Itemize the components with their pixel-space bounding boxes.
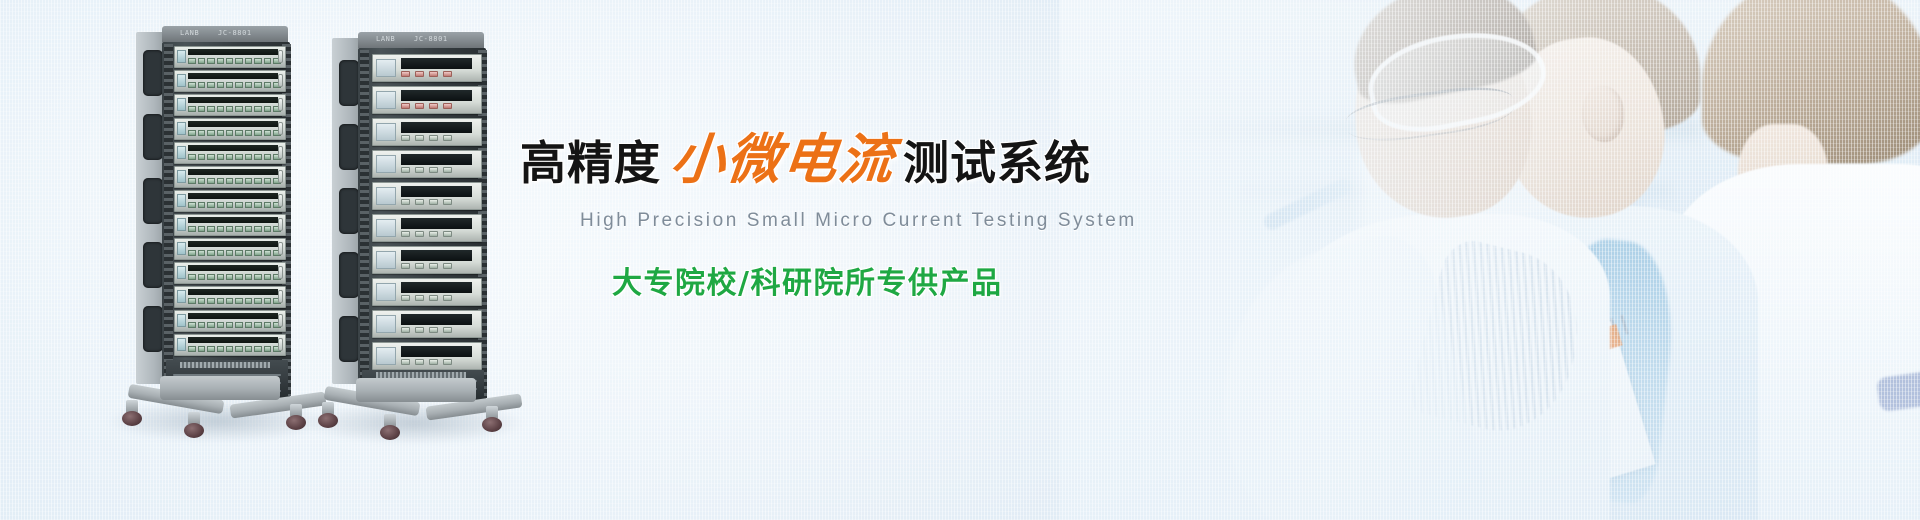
rack-caster	[482, 406, 502, 432]
module-dark-strip	[188, 97, 278, 104]
module-knob	[278, 98, 284, 110]
rack-rail-left	[360, 50, 369, 398]
frame-slot	[339, 188, 359, 234]
instrument-module	[174, 238, 286, 260]
module-channel-row	[188, 345, 280, 353]
module-knob	[278, 50, 284, 62]
module-display	[376, 251, 395, 269]
rack-model-label: JC-8801	[414, 35, 448, 43]
rack-caster	[318, 402, 338, 428]
frame-slot	[143, 114, 163, 160]
rack-brand-label: LANB	[180, 29, 199, 37]
module-dark-strip	[188, 337, 278, 344]
instrument-module	[372, 182, 482, 210]
module-knob	[278, 170, 284, 182]
module-channel-row	[188, 153, 280, 161]
module-dark-strip	[401, 250, 472, 261]
module-button-row	[401, 198, 472, 206]
product-rack-left: LANB JC-8801	[118, 20, 318, 420]
module-display	[177, 122, 186, 135]
module-dark-strip	[188, 265, 278, 272]
module-display	[177, 98, 186, 111]
module-display	[376, 283, 395, 301]
module-dark-strip	[401, 90, 472, 101]
module-button-row	[401, 102, 472, 110]
module-channel-row	[188, 177, 280, 185]
module-button-row	[401, 134, 472, 142]
instrument-module	[372, 310, 482, 338]
frame-slot	[143, 178, 163, 224]
module-dark-strip	[188, 121, 278, 128]
rack-caster	[184, 412, 204, 438]
module-knob	[278, 194, 284, 206]
rack-caster	[122, 400, 142, 426]
module-display	[177, 218, 186, 231]
rack-label-strip	[180, 362, 270, 368]
banner-root: LANB JC-8801	[0, 0, 1920, 520]
instrument-module	[174, 118, 286, 140]
module-dark-strip	[401, 58, 472, 69]
headline-part1: 高精度	[520, 140, 661, 186]
module-channel-row	[188, 105, 280, 113]
instrument-module	[372, 118, 482, 146]
headline-part2: 测试系统	[903, 140, 1091, 186]
module-dark-strip	[188, 73, 278, 80]
module-channel-row	[188, 249, 280, 257]
module-channel-row	[188, 57, 280, 65]
instrument-module	[174, 166, 286, 188]
instrument-module	[372, 278, 482, 306]
module-dark-strip	[188, 193, 278, 200]
instrument-module	[174, 94, 286, 116]
module-channel-row	[188, 297, 280, 305]
module-dark-strip	[401, 186, 472, 197]
module-knob	[278, 290, 284, 302]
module-button-row	[401, 358, 472, 366]
module-dark-strip	[188, 313, 278, 320]
instrument-module	[174, 214, 286, 236]
rack-caster	[286, 404, 306, 430]
instrument-module	[174, 334, 286, 356]
instrument-module	[174, 262, 286, 284]
module-channel-row	[188, 273, 280, 281]
pipette-icon	[1261, 176, 1354, 232]
rack-model-label: JC-8801	[218, 29, 252, 37]
module-display	[376, 347, 395, 365]
instrument-module	[174, 190, 286, 212]
laboratory-scientists-photo	[1060, 0, 1920, 520]
module-dark-strip	[188, 289, 278, 296]
rack-rail-left	[164, 44, 173, 396]
module-knob	[278, 146, 284, 158]
module-dark-strip	[401, 218, 472, 229]
module-knob	[278, 338, 284, 350]
module-dark-strip	[188, 145, 278, 152]
instrument-module	[372, 54, 482, 82]
module-button-row	[401, 326, 472, 334]
scientist-man	[1250, 0, 1610, 520]
module-knob	[278, 266, 284, 278]
banner-subtitle: High Precision Small Micro Current Testi…	[580, 210, 1080, 232]
rack-brand-label: LANB	[376, 35, 395, 43]
module-dark-strip	[401, 282, 472, 293]
rack-base-center	[160, 376, 280, 400]
module-dark-strip	[188, 169, 278, 176]
module-channel-row	[188, 225, 280, 233]
frame-slot	[339, 252, 359, 298]
frame-slot	[339, 124, 359, 170]
module-knob	[278, 74, 284, 86]
module-display	[376, 155, 395, 173]
banner-copy: 高精度 小微电流 测试系统 High Precision Small Micro…	[520, 132, 1080, 302]
module-display	[177, 242, 186, 255]
module-display	[177, 146, 186, 159]
instrument-module	[174, 142, 286, 164]
frame-slot	[339, 60, 359, 106]
instrument-module	[174, 70, 286, 92]
module-display	[177, 338, 186, 351]
instrument-module	[372, 342, 482, 370]
frame-slot	[143, 50, 163, 96]
module-display	[177, 74, 186, 87]
module-knob	[278, 218, 284, 230]
banner-headline: 高精度 小微电流 测试系统	[520, 132, 1080, 186]
module-channel-row	[188, 201, 280, 209]
headline-highlight: 小微电流	[668, 132, 898, 186]
module-button-row	[401, 294, 472, 302]
instrument-module	[372, 86, 482, 114]
module-display	[177, 170, 186, 183]
module-display	[177, 314, 186, 327]
module-button-row	[401, 166, 472, 174]
module-display	[376, 123, 395, 141]
module-dark-strip	[401, 314, 472, 325]
module-dark-strip	[188, 241, 278, 248]
instrument-module	[174, 46, 286, 68]
rack-base-center	[356, 378, 476, 402]
rack-caster	[380, 414, 400, 440]
instrument-module	[372, 150, 482, 178]
module-display	[177, 50, 186, 63]
module-knob	[278, 122, 284, 134]
module-display	[376, 219, 395, 237]
instrument-module	[372, 246, 482, 274]
instrument-module	[174, 286, 286, 308]
frame-slot	[143, 242, 163, 288]
module-button-row	[401, 70, 472, 78]
module-dark-strip	[188, 217, 278, 224]
module-dark-strip	[401, 346, 472, 357]
module-button-row	[401, 230, 472, 238]
module-channel-row	[188, 321, 280, 329]
module-dark-strip	[401, 154, 472, 165]
banner-tagline: 大专院校/科研院所专供产品	[612, 258, 1080, 302]
module-dark-strip	[401, 122, 472, 133]
module-channel-row	[188, 129, 280, 137]
frame-slot	[143, 306, 163, 352]
frame-slot	[339, 316, 359, 362]
module-display	[177, 266, 186, 279]
module-knob	[278, 242, 284, 254]
module-button-row	[401, 262, 472, 270]
module-display	[376, 91, 395, 109]
module-channel-row	[188, 81, 280, 89]
module-display	[177, 290, 186, 303]
module-display	[376, 315, 395, 333]
instrument-module	[174, 310, 286, 332]
instrument-module	[372, 214, 482, 242]
module-display	[376, 59, 395, 77]
module-display	[376, 187, 395, 205]
module-display	[177, 194, 186, 207]
module-dark-strip	[188, 49, 278, 56]
product-rack-right: LANB JC-8801	[314, 26, 514, 424]
module-knob	[278, 314, 284, 326]
